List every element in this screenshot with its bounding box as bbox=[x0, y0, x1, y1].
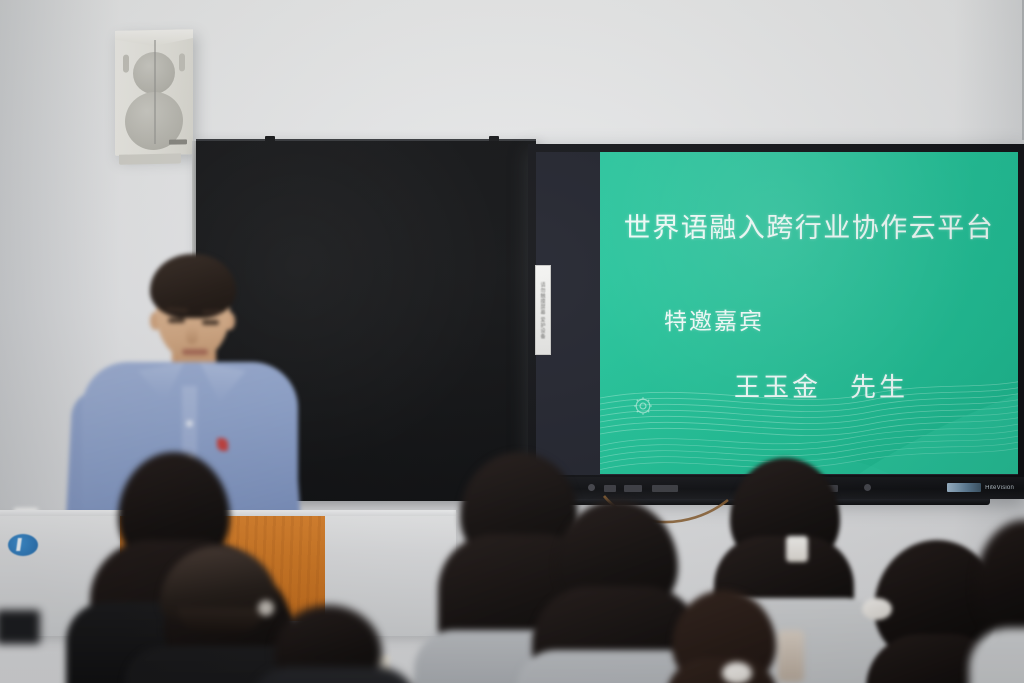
slide-subtitle: 特邀嘉宾 bbox=[664, 302, 764, 336]
cap-brim bbox=[178, 608, 264, 632]
presenter-mouth bbox=[182, 349, 208, 355]
screen-side-label-text: 请勿触摸屏幕 爱护设备 bbox=[540, 282, 547, 339]
cap-buckle bbox=[258, 600, 274, 616]
speaker-badge bbox=[169, 139, 187, 144]
presenter-eye-right bbox=[202, 320, 219, 325]
gear-icon bbox=[632, 395, 654, 417]
slide-guest-name: 王玉金 先生 bbox=[734, 367, 908, 404]
presentation-slide[interactable]: 世界语融入跨行业协作云平台 特邀嘉宾 王玉金 先生 bbox=[600, 152, 1018, 474]
hair-clip bbox=[786, 536, 808, 562]
water-bottle bbox=[778, 630, 804, 682]
presenter-eye-left bbox=[168, 318, 185, 323]
audience: Y bbox=[0, 430, 1024, 683]
presenter-hair bbox=[150, 254, 236, 318]
scrunchie bbox=[722, 662, 752, 683]
speaker-seam bbox=[154, 40, 156, 144]
speaker-slot-right bbox=[179, 53, 185, 71]
classroom-scene: 请勿触摸屏幕 爱护设备 世界语融入跨行业协作云平 bbox=[0, 0, 1024, 683]
presenter-nose bbox=[186, 326, 198, 344]
wall-speaker bbox=[115, 29, 193, 156]
speaker-base bbox=[119, 153, 181, 164]
slide-title: 世界语融入跨行业协作云平台 bbox=[600, 206, 1018, 245]
screen-side-label: 请勿触摸屏幕 爱护设备 bbox=[535, 265, 551, 355]
scrunchie bbox=[862, 598, 892, 620]
student-body bbox=[250, 667, 418, 683]
speaker-slot-left bbox=[123, 55, 129, 73]
presenter-shirt-button bbox=[186, 420, 193, 427]
